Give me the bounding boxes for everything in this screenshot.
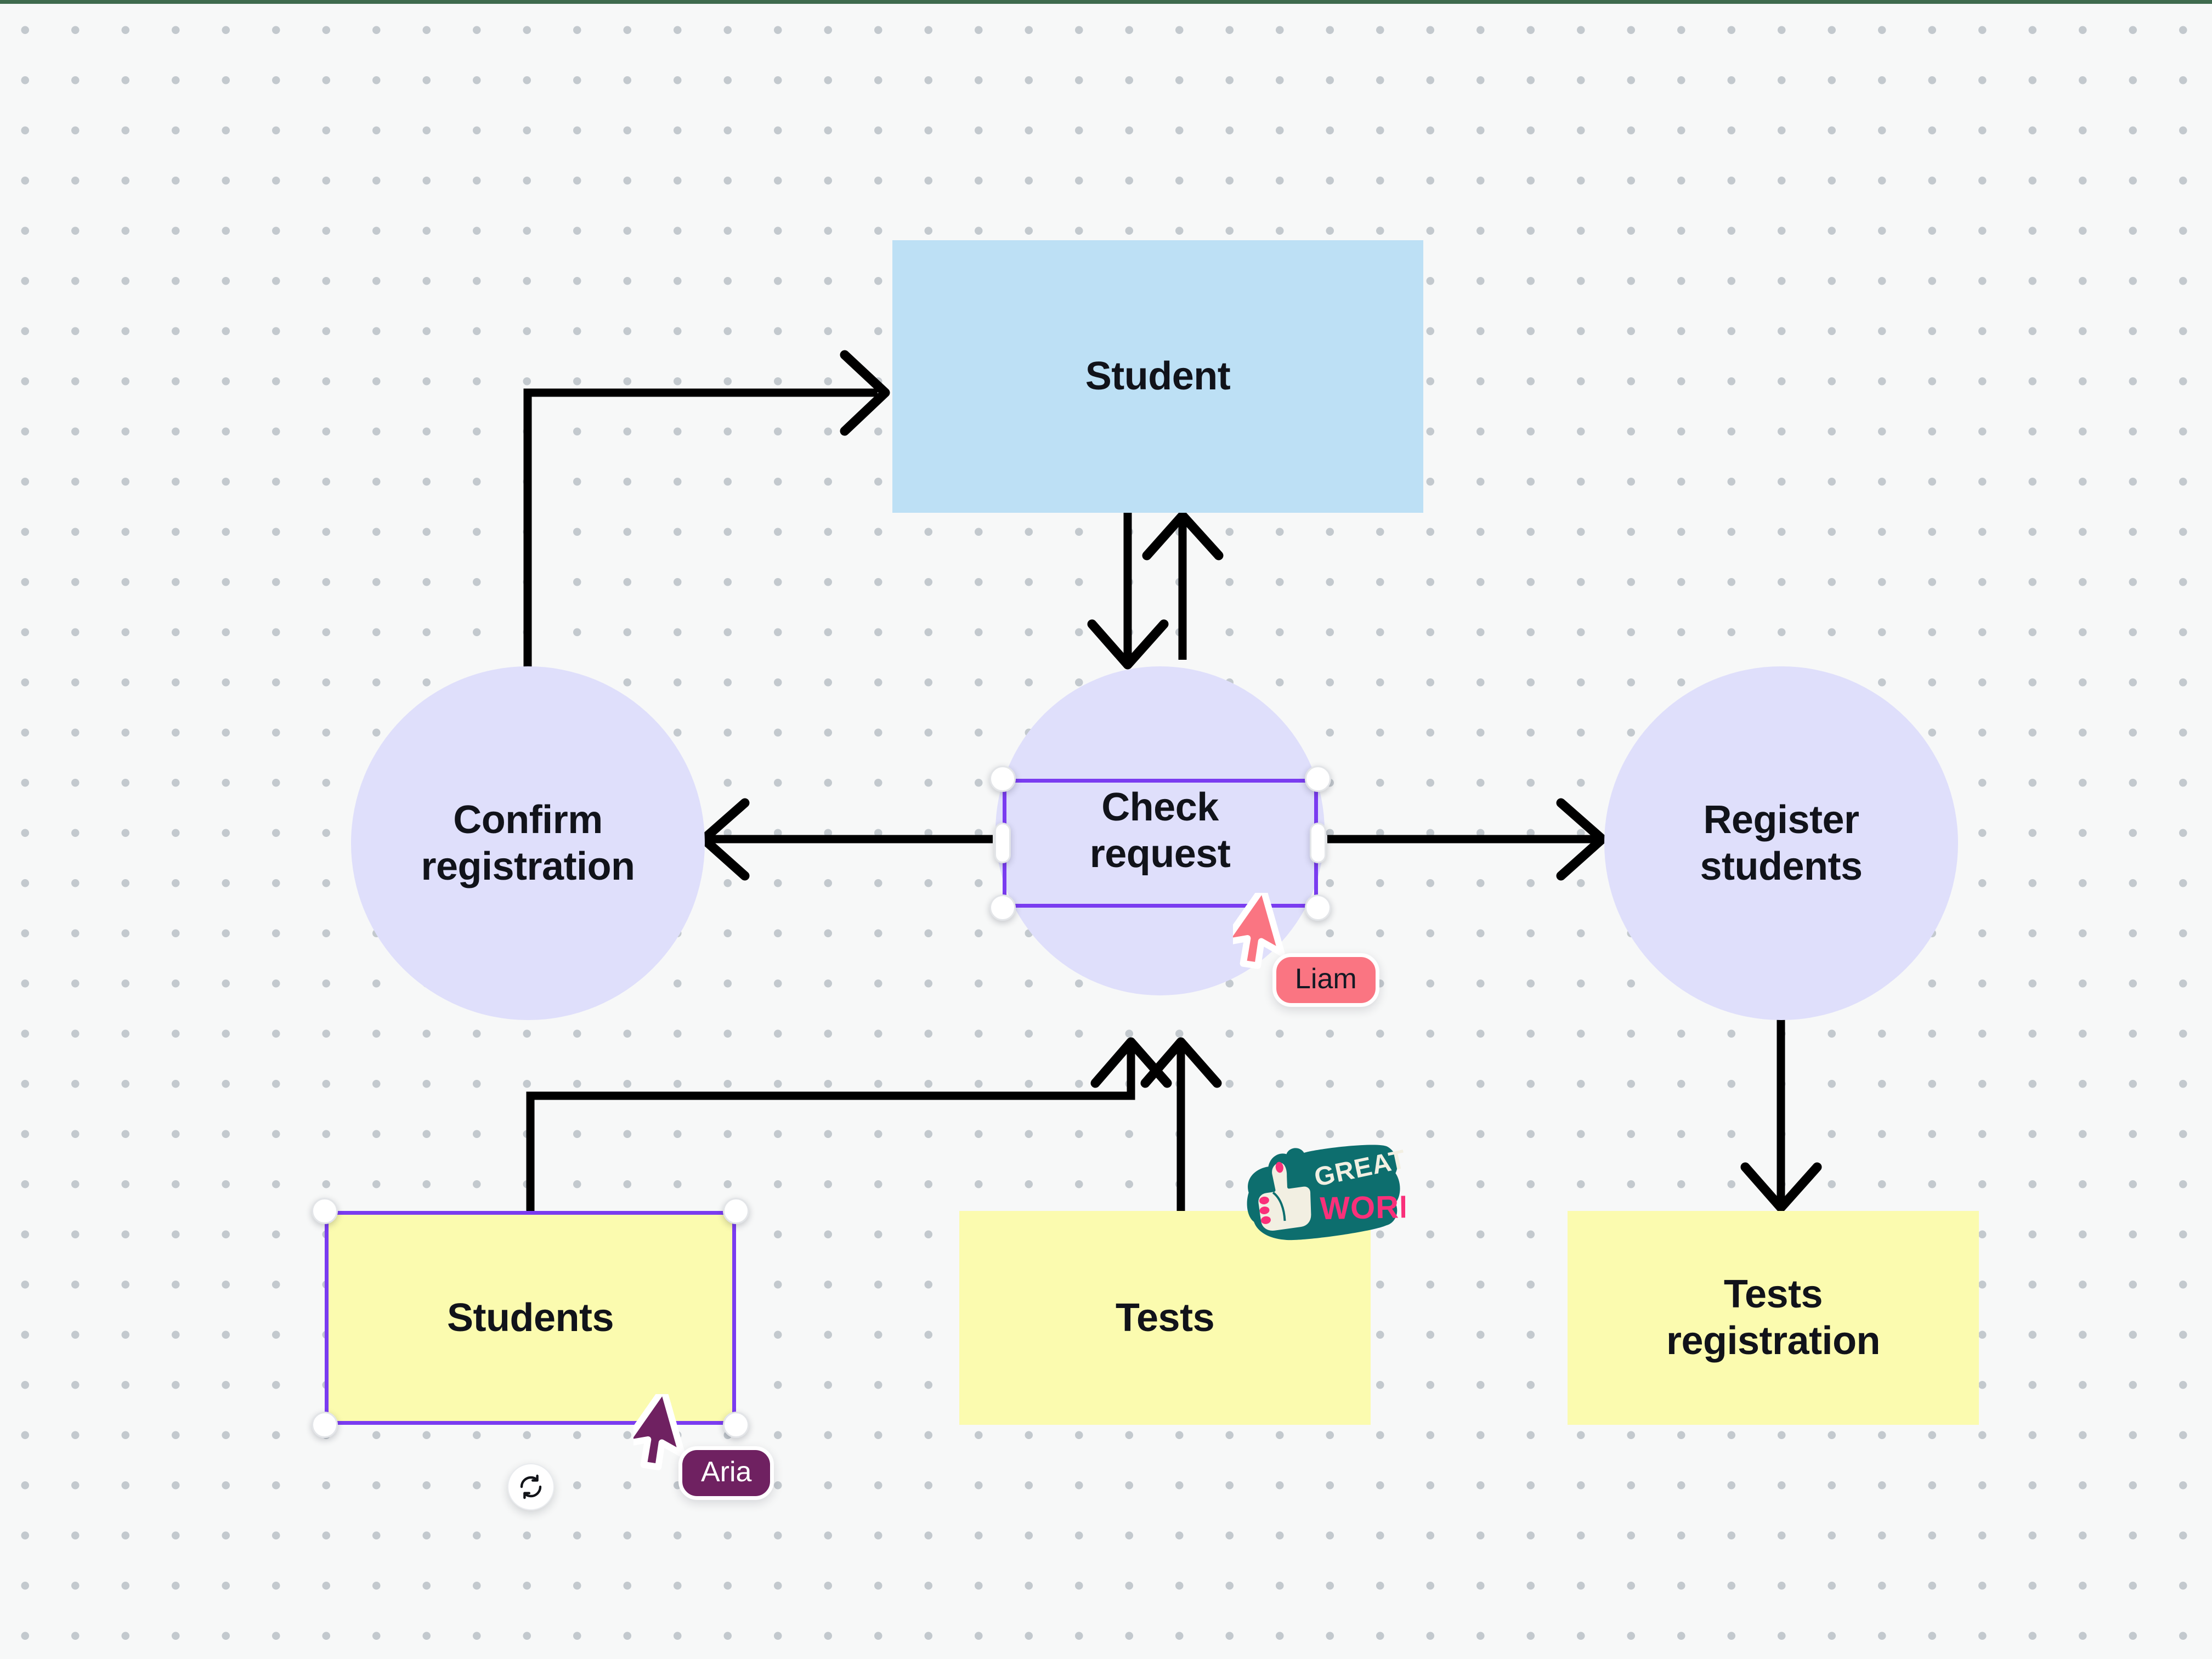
node-students-label: Students [437, 1295, 624, 1341]
great-work-sticker-svg: GREAT WORK [1241, 1142, 1405, 1260]
top-accent-bar [0, 0, 2212, 4]
node-student[interactable]: Student [892, 240, 1423, 513]
node-check-request-label: Check request [1080, 784, 1241, 877]
node-tests-registration[interactable]: Tests registration [1568, 1211, 1979, 1425]
sticker-line2: WORK [1320, 1189, 1405, 1226]
cursor-liam: Liam [1233, 893, 1299, 978]
node-confirm-registration[interactable]: Confirm registration [351, 666, 705, 1020]
node-tests-registration-label: Tests registration [1656, 1271, 1890, 1364]
cursor-label-aria: Aria [678, 1446, 774, 1500]
node-confirm-registration-label: Confirm registration [411, 797, 644, 890]
rotate-icon [518, 1474, 544, 1500]
cursor-label-liam: Liam [1272, 953, 1379, 1007]
node-register-students[interactable]: Register students [1604, 666, 1958, 1020]
sticker-great-work[interactable]: GREAT WORK [1241, 1142, 1405, 1260]
rotate-handle-students[interactable] [507, 1463, 555, 1510]
cursor-aria: Aria [633, 1394, 699, 1479]
node-students[interactable]: Students [325, 1211, 736, 1425]
node-register-students-label: Register students [1690, 797, 1872, 890]
node-student-label: Student [1076, 353, 1240, 400]
node-tests-label: Tests [1106, 1295, 1224, 1341]
